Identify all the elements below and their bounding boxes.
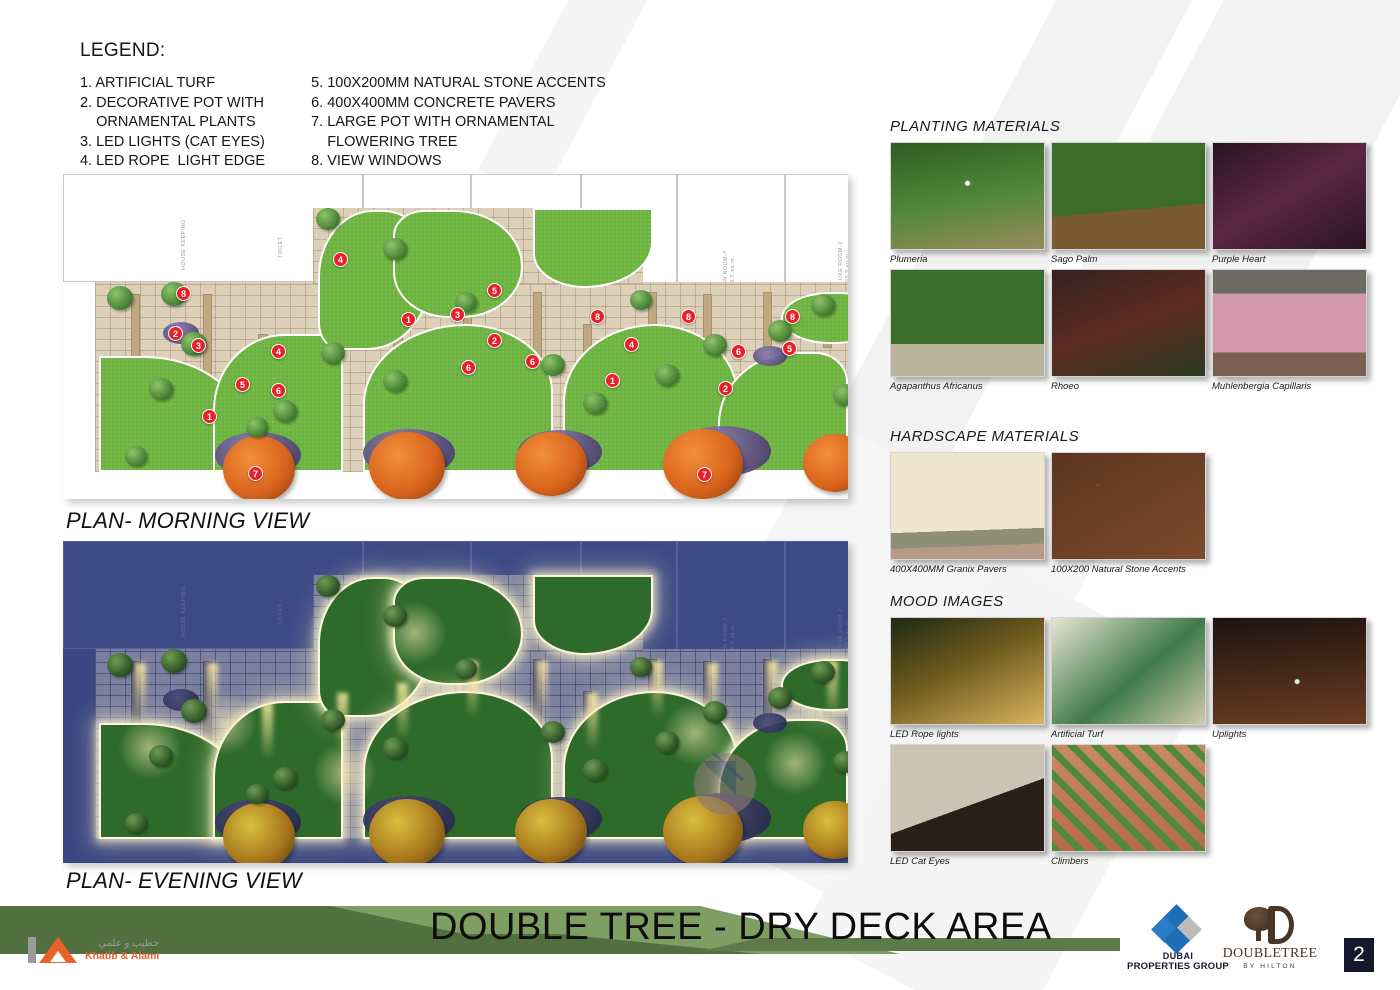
legend-item: ORNAMENTAL PLANTS <box>80 113 265 132</box>
flowering-tree <box>515 432 587 496</box>
shrub <box>246 417 268 437</box>
shrub <box>583 392 607 414</box>
material-caption: Artificial Turf <box>1051 729 1206 740</box>
material-image <box>1051 617 1206 725</box>
material-image <box>890 744 1045 852</box>
plan-callout-1[interactable]: 1 <box>202 409 217 424</box>
shrub <box>161 649 187 673</box>
light-glow <box>118 716 182 780</box>
shrub <box>273 400 297 422</box>
material-image <box>890 452 1045 560</box>
material-image <box>890 269 1045 377</box>
material-caption: Purple Heart <box>1212 254 1367 265</box>
light-glow <box>763 731 827 795</box>
plan-callout-7[interactable]: 7 <box>697 467 712 482</box>
legend-item: 5. 100X200MM NATURAL STONE ACCENTS <box>311 74 606 93</box>
legend-column-left: 1. ARTIFICIAL TURF 2. DECORATIVE POT WIT… <box>80 74 265 171</box>
byhilton-label: BY HILTON <box>1212 963 1328 970</box>
material-caption: Muhlenbergia Capillaris <box>1212 381 1367 392</box>
shrub <box>703 701 727 723</box>
material-image <box>1212 142 1367 250</box>
planting-materials-title: PLANTING MATERIALS <box>890 118 1373 135</box>
room-label: HOUSE KEEPING <box>181 586 188 637</box>
material-thumb-cell: 100X200 Natural Stone Accents <box>1051 452 1206 575</box>
shrub <box>541 721 565 743</box>
shrub <box>149 745 173 767</box>
hardscape-materials-title: HARDSCAPE MATERIALS <box>890 428 1373 445</box>
planting-materials-section: PLANTING MATERIALS PlumeriaSago PalmPurp… <box>890 118 1373 396</box>
material-caption: Agapanthus Africanus <box>890 381 1045 392</box>
shrub <box>655 731 679 753</box>
legend-item: 7. LARGE POT WITH ORNAMENTAL <box>311 113 606 132</box>
flowering-tree <box>369 432 445 499</box>
material-caption: 100X200 Natural Stone Accents <box>1051 564 1206 575</box>
material-thumb-cell: Agapanthus Africanus <box>890 269 1045 392</box>
legend-item: 1. ARTIFICIAL TURF <box>80 74 265 93</box>
room-label: HOUSE KEEPING <box>181 219 188 270</box>
khatib-alami-logo: خطيب و علمي Khatib & Alami <box>28 935 159 965</box>
legend-item: 6. 400X400MM CONCRETE PAVERS <box>311 94 606 113</box>
uplight-cone <box>397 683 408 737</box>
plan-canvas-morning: DELUXE ROOM-358.7 sq.m.TWIN ROOM-846.0 s… <box>63 174 848 499</box>
material-image <box>1212 617 1367 725</box>
shrub <box>316 208 340 230</box>
shrub <box>383 370 407 392</box>
material-thumb-cell: Purple Heart <box>1212 142 1367 265</box>
khatib-alami-arabic: خطيب و علمي <box>85 938 159 950</box>
shrub <box>125 446 147 466</box>
hardscape-materials-section: HARDSCAPE MATERIALS 400X400MM Granix Pav… <box>890 428 1373 579</box>
material-image <box>890 142 1045 250</box>
plan-callout-8[interactable]: 8 <box>176 286 191 301</box>
shrub <box>703 334 727 356</box>
plan-morning-title: PLAN- MORNING VIEW <box>66 508 309 534</box>
legend-item: 2. DECORATIVE POT WITH <box>80 94 265 113</box>
shrub <box>383 605 407 627</box>
plan-callout-2[interactable]: 2 <box>168 326 183 341</box>
flowering-tree <box>369 799 445 863</box>
plan-callout-5[interactable]: 5 <box>487 283 502 298</box>
groundcover-bed <box>753 713 787 733</box>
plan-callout-5[interactable]: 5 <box>235 377 250 392</box>
material-thumb-cell: Artificial Turf <box>1051 617 1206 740</box>
material-caption: Uplights <box>1212 729 1367 740</box>
material-image <box>1051 452 1206 560</box>
flowering-tree <box>223 803 295 863</box>
material-thumb-cell: Plumeria <box>890 142 1045 265</box>
legend-column-right: 5. 100X200MM NATURAL STONE ACCENTS 6. 40… <box>311 74 606 171</box>
shrub <box>541 354 565 376</box>
shrub <box>811 294 835 316</box>
light-glow <box>193 691 257 755</box>
doubletree-label: DOUBLETREE <box>1212 946 1328 962</box>
material-caption: Sago Palm <box>1051 254 1206 265</box>
material-image <box>1051 142 1206 250</box>
material-caption: Climbers <box>1051 856 1206 867</box>
legend-block: LEGEND: 1. ARTIFICIAL TURF 2. DECORATIVE… <box>80 40 606 171</box>
mood-images-title: MOOD IMAGES <box>890 593 1373 610</box>
plan-callout-1[interactable]: 1 <box>401 312 416 327</box>
plan-callout-3[interactable]: 3 <box>191 338 206 353</box>
stone-accent-strip <box>131 294 140 364</box>
plan-callout-6[interactable]: 6 <box>731 344 746 359</box>
material-thumb-cell: Muhlenbergia Capillaris <box>1212 269 1367 392</box>
plan-callout-2[interactable]: 2 <box>487 333 502 348</box>
material-caption: Plumeria <box>890 254 1045 265</box>
material-caption: LED Cat Eyes <box>890 856 1045 867</box>
plan-callout-6[interactable]: 6 <box>461 360 476 375</box>
compass-north-icon <box>694 753 756 815</box>
uplight-cone <box>262 703 273 757</box>
shrub <box>583 759 607 781</box>
khatib-alami-english: Khatib & Alami <box>85 950 159 962</box>
doubletree-hilton-logo: DOUBLETREE BY HILTON <box>1212 905 1328 970</box>
legend-item: 8. VIEW WINDOWS <box>311 152 606 171</box>
material-caption: LED Rope lights <box>890 729 1045 740</box>
shrub <box>181 699 207 723</box>
shrub <box>316 575 340 597</box>
legend-item: 4. LED ROPE LIGHT EDGE <box>80 152 265 171</box>
plan-canvas-evening: DELUXE ROOM-358.7 sq.m.TWIN ROOM-846.0 s… <box>63 541 848 863</box>
plan-callout-7[interactable]: 7 <box>248 466 263 481</box>
shrub <box>383 238 407 260</box>
material-image <box>1051 744 1206 852</box>
shrub <box>630 657 652 677</box>
shrub <box>107 286 133 310</box>
diamond-icon <box>1155 908 1201 948</box>
sheet-main-title: DOUBLE TREE - DRY DECK AREA <box>430 906 1052 949</box>
flowering-tree <box>663 429 743 499</box>
tree-icon <box>1242 905 1298 945</box>
shrub <box>107 653 133 677</box>
plan-callout-6[interactable]: 6 <box>525 354 540 369</box>
material-thumb-cell: Uplights <box>1212 617 1367 740</box>
shrub <box>273 767 297 789</box>
material-image <box>1212 269 1367 377</box>
plan-callout-3[interactable]: 3 <box>450 307 465 322</box>
uplight-cone <box>587 693 598 747</box>
shrub <box>321 709 345 731</box>
material-image <box>1051 269 1206 377</box>
plan-callout-5[interactable]: 5 <box>782 341 797 356</box>
khatib-alami-mark-icon <box>28 935 78 965</box>
material-caption: Rhoeo <box>1051 381 1206 392</box>
room-label: TOILET <box>278 603 285 625</box>
uplight-cone <box>652 661 663 715</box>
legend-title: LEGEND: <box>80 40 606 62</box>
plan-callout-8[interactable]: 8 <box>590 309 605 324</box>
material-thumb-cell: Rhoeo <box>1051 269 1206 392</box>
plan-callout-4[interactable]: 4 <box>333 252 348 267</box>
plan-callout-4[interactable]: 4 <box>624 337 639 352</box>
room-label: TOILET <box>278 236 285 258</box>
shrub <box>321 342 345 364</box>
shrub <box>768 687 792 709</box>
plan-callout-8[interactable]: 8 <box>785 309 800 324</box>
shrub <box>149 378 173 400</box>
shrub <box>246 784 268 804</box>
shrub <box>630 290 652 310</box>
legend-item: 3. LED LIGHTS (CAT EYES) <box>80 133 265 152</box>
shrub <box>811 661 835 683</box>
uplight-cone <box>537 661 548 715</box>
plan-evening-title: PLAN- EVENING VIEW <box>66 868 302 894</box>
page-number-badge: 2 <box>1344 938 1374 972</box>
plan-callout-6[interactable]: 6 <box>271 383 286 398</box>
material-thumb-cell: LED Rope lights <box>890 617 1045 740</box>
plan-evening-view[interactable]: DELUXE ROOM-358.7 sq.m.TWIN ROOM-846.0 s… <box>63 541 848 863</box>
plan-callout-4[interactable]: 4 <box>271 344 286 359</box>
plan-callout-2[interactable]: 2 <box>718 381 733 396</box>
material-caption: 400X400MM Granix Pavers <box>890 564 1045 575</box>
light-glow <box>313 741 377 805</box>
mood-images-section: MOOD IMAGES LED Rope lightsArtificial Tu… <box>890 593 1373 871</box>
plan-morning-view[interactable]: DELUXE ROOM-358.7 sq.m.TWIN ROOM-846.0 s… <box>63 174 848 499</box>
material-image <box>890 617 1045 725</box>
material-thumb-cell: 400X400MM Granix Pavers <box>890 452 1045 575</box>
shrub <box>383 737 407 759</box>
material-thumb-cell: LED Cat Eyes <box>890 744 1045 867</box>
shrub <box>455 659 477 679</box>
plan-callout-1[interactable]: 1 <box>605 373 620 388</box>
plan-callout-8[interactable]: 8 <box>681 309 696 324</box>
shrub <box>655 364 679 386</box>
shrub <box>125 813 147 833</box>
uplight-cone <box>135 663 146 717</box>
flowering-tree <box>515 799 587 863</box>
legend-item: FLOWERING TREE <box>311 133 606 152</box>
material-thumb-cell: Sago Palm <box>1051 142 1206 265</box>
material-thumb-cell: Climbers <box>1051 744 1206 867</box>
